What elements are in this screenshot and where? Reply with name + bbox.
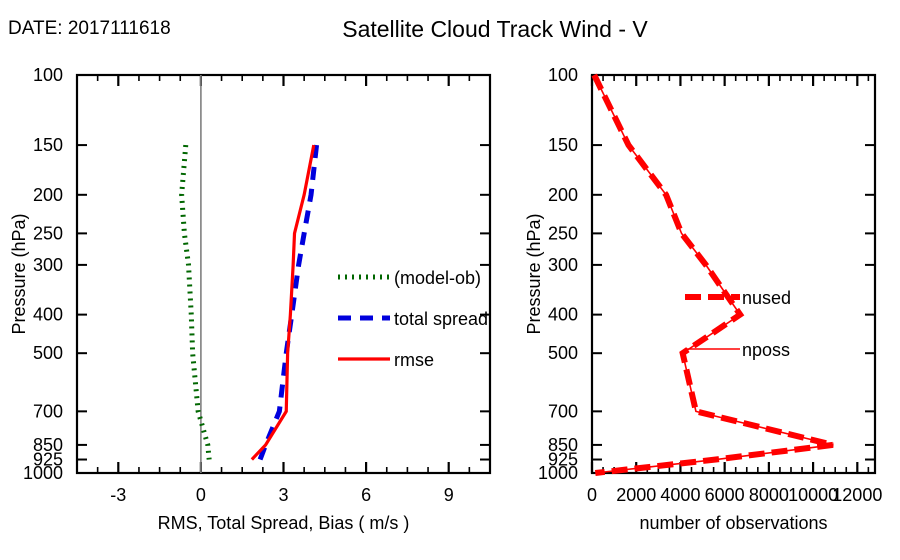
right-ytick-label: 200 [548,185,578,205]
right-xtick-label: 2000 [616,485,656,505]
chart-page: DATE: 2017111618 Satellite Cloud Track W… [0,0,900,560]
left-ytick-label: 500 [33,343,63,363]
right-xtick-label: 4000 [660,485,700,505]
legend-label-nused: nused [742,288,791,308]
right-ytick-label: 700 [548,401,578,421]
left-series-rmse [252,145,314,459]
left-xtick-label: 6 [361,485,371,505]
right-xtick-label: 0 [587,485,597,505]
right-xtick-label: 8000 [749,485,789,505]
chart-canvas: 1001502002503004005007008509251000-30369… [0,0,900,560]
legend-label-nposs: nposs [742,340,790,360]
right-ytick-label: 400 [548,305,578,325]
right-series-nused [594,75,833,473]
left-yaxis-title: Pressure (hPa) [9,213,29,334]
right-xtick-label: 10000 [788,485,838,505]
legend-label-rmse: rmse [394,350,434,370]
left-series-total-spread [260,145,316,459]
legend-label--model-ob-: (model-ob) [394,268,481,288]
right-xtick-label: 12000 [832,485,882,505]
right-yaxis-title: Pressure (hPa) [524,213,544,334]
left-ytick-label: 400 [33,305,63,325]
left-ytick-label: 250 [33,223,63,243]
left-xtick-label: 3 [278,485,288,505]
right-ytick-label: 500 [548,343,578,363]
right-xaxis-title: number of observations [639,513,827,533]
right-ytick-label: 150 [548,135,578,155]
left-xtick-label: -3 [110,485,126,505]
left-xtick-label: 0 [196,485,206,505]
left-panel: 1001502002503004005007008509251000-30369… [9,65,490,533]
left-ytick-label: 300 [33,255,63,275]
right-ytick-label: 250 [548,223,578,243]
right-xtick-label: 6000 [705,485,745,505]
legend-label-total-spread: total spread [394,309,488,329]
left-xaxis-title: RMS, Total Spread, Bias ( m/s ) [158,513,410,533]
left-ytick-label: 100 [33,65,63,85]
left-series--model-ob- [182,145,210,459]
left-xtick-label: 9 [444,485,454,505]
left-ytick-label: 200 [33,185,63,205]
left-ytick-label: 150 [33,135,63,155]
left-ytick-label: 700 [33,401,63,421]
right-panel: 1001502002503004005007008509251000020004… [524,65,882,533]
right-ytick-label: 1000 [538,463,578,483]
right-plot-border [592,75,875,473]
right-ytick-label: 100 [548,65,578,85]
left-ytick-label: 1000 [23,463,63,483]
right-ytick-label: 300 [548,255,578,275]
